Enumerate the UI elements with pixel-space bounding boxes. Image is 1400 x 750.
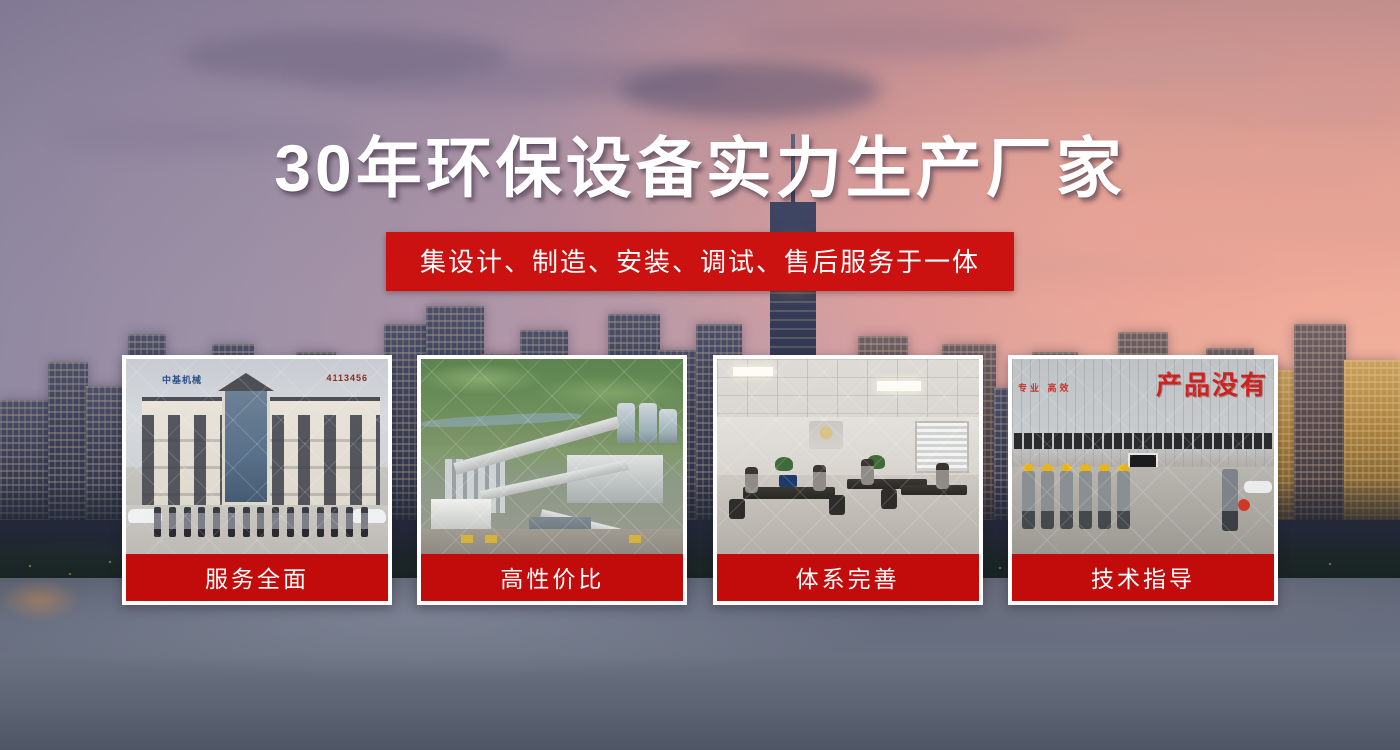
building-signage-label: 中基机械 — [162, 373, 202, 386]
page-title: 30年环保设备实力生产厂家 — [0, 132, 1400, 206]
factory-signage-label: 产品没有 — [1156, 365, 1268, 402]
hero-banner: 30年环保设备实力生产厂家 集设计、制造、安装、调试、售后服务于一体 中基机械 … — [0, 0, 1400, 750]
wall-emblem-icon — [809, 421, 843, 449]
feature-card[interactable]: 中基机械 4113456 服务全面 — [122, 355, 392, 605]
card-label: 技术指导 — [1012, 554, 1274, 601]
card-photo-factory-workers: 产品没有 专业 高效 — [1012, 359, 1274, 554]
card-photo-company-building: 中基机械 4113456 — [126, 359, 388, 554]
hero-subtitle-banner: 集设计、制造、安装、调试、售后服务于一体 — [386, 232, 1014, 291]
card-label: 服务全面 — [126, 554, 388, 601]
card-label: 高性价比 — [421, 554, 683, 601]
red-helmet-icon — [1238, 499, 1250, 511]
building-phone-label: 4113456 — [326, 373, 368, 383]
feature-card[interactable]: 产品没有 专业 高效 技术指导 — [1008, 355, 1278, 605]
card-photo-office-interior — [717, 359, 979, 554]
card-photo-industrial-plant — [421, 359, 683, 554]
factory-slogan-label: 专业 高效 — [1018, 381, 1072, 394]
feature-card-list: 中基机械 4113456 服务全面 — [122, 355, 1278, 605]
feature-card[interactable]: 体系完善 — [713, 355, 983, 605]
card-label: 体系完善 — [717, 554, 979, 601]
feature-card[interactable]: 高性价比 — [417, 355, 687, 605]
